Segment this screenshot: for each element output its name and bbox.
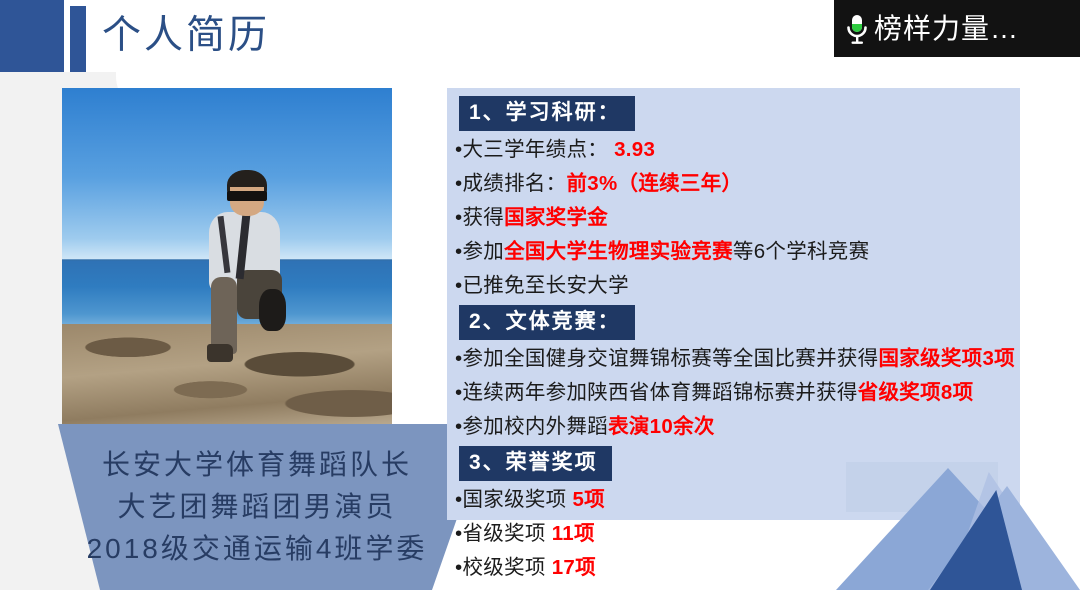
section-heading: 1、学习科研：: [459, 96, 635, 131]
bullet-row: •大三学年绩点： 3.93: [455, 133, 1020, 167]
caption-line: 长安大学体育舞蹈队长: [102, 445, 412, 485]
header-accent-square: [0, 0, 64, 72]
photo-person: [197, 170, 296, 362]
highlight-text: 国家级奖项3项: [878, 347, 1015, 370]
highlight-text: 国家奖学金: [504, 206, 608, 229]
body-text: •参加: [455, 240, 504, 263]
caption-line: 2018级交通运输4班学委: [87, 529, 428, 569]
header-accent-bar: [70, 6, 86, 72]
highlight-text: 5项: [572, 488, 605, 511]
highlight-text: 3.93: [608, 138, 655, 161]
body-text: •参加校内外舞蹈: [455, 415, 608, 438]
section-heading: 2、文体竞赛：: [459, 305, 635, 340]
highlight-text: 全国大学生物理实验竞赛: [504, 240, 733, 263]
bullet-row: •连续两年参加陕西省体育舞蹈锦标赛并获得省级奖项8项: [455, 376, 1020, 410]
body-text: •省级奖项: [455, 522, 552, 545]
bullet-row: •参加全国大学生物理实验竞赛等6个学科竞赛: [455, 235, 1020, 269]
bullet-row: •参加校内外舞蹈表演10余次: [455, 410, 1020, 444]
body-text: •连续两年参加陕西省体育舞蹈锦标赛并获得: [455, 381, 858, 404]
section-tag-wrap: 1、学习科研：: [459, 96, 1020, 131]
body-text: •成绩排名：: [455, 172, 566, 195]
bullet-row: •已推免至长安大学: [455, 269, 1020, 303]
highlight-text: 17项: [552, 556, 596, 579]
slide-canvas: 个人简历 榜样力量…: [0, 0, 1080, 590]
body-text: 等6个学科竞赛: [733, 240, 870, 263]
body-text: •国家级奖项: [455, 488, 572, 511]
bullet-row: •成绩排名：前3%（连续三年）: [455, 167, 1020, 201]
recording-label: 榜样力量…: [874, 12, 1019, 46]
bullet-row: •参加全国健身交谊舞锦标赛等全国比赛并获得国家级奖项3项: [455, 342, 1020, 376]
page-title: 个人简历: [102, 8, 270, 64]
section-tag-wrap: 2、文体竞赛：: [459, 305, 1020, 340]
highlight-text: 表演10余次: [608, 415, 715, 438]
caption-text-block: 长安大学体育舞蹈队长 大艺团舞蹈团男演员 2018级交通运输4班学委: [0, 424, 500, 590]
profile-photo: [62, 88, 392, 430]
body-text: •已推免至长安大学: [455, 274, 629, 297]
body-text: •获得: [455, 206, 504, 229]
microphone-icon: [842, 12, 872, 46]
body-text: •校级奖项: [455, 556, 552, 579]
content-panel: 1、学习科研：•大三学年绩点： 3.93•成绩排名：前3%（连续三年）•获得国家…: [447, 88, 1020, 520]
highlight-text: 11项: [552, 522, 595, 545]
highlight-text: 省级奖项8项: [858, 381, 974, 404]
recording-badge[interactable]: 榜样力量…: [834, 0, 1080, 57]
body-text: •参加全国健身交谊舞锦标赛等全国比赛并获得: [455, 347, 878, 370]
section-heading: 3、荣誉奖项: [459, 446, 612, 481]
bullet-row: •获得国家奖学金: [455, 201, 1020, 235]
highlight-text: 前3%（连续三年）: [566, 172, 742, 195]
body-text: •大三学年绩点：: [455, 138, 608, 161]
caption-line: 大艺团舞蹈团男演员: [117, 487, 396, 527]
